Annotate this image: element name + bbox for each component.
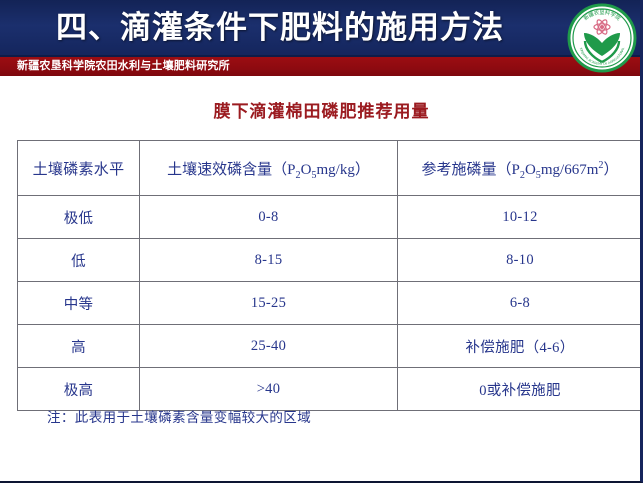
- cell-content: 15-25: [140, 282, 398, 325]
- page-title: 四、滴灌条件下肥料的施用方法: [0, 6, 560, 50]
- slide-header: 四、滴灌条件下肥料的施用方法 新疆农垦科学院农田水利与土壤肥料研究所: [0, 0, 643, 76]
- header-col3-suffix: mg/667m: [541, 162, 599, 178]
- cell-content: 8-15: [140, 239, 398, 282]
- cell-dose: 补偿施肥（4-6）: [398, 325, 643, 368]
- header-cell-available-p: 土壤速效磷含量（P2O5mg/kg）: [140, 141, 398, 196]
- table-row: 极低 0-8 10-12: [18, 196, 643, 239]
- header-col3-prefix: 参考施磷量（P: [422, 162, 520, 178]
- cell-dose: 10-12: [398, 196, 643, 239]
- table-row: 极高 >40 0或补偿施肥: [18, 368, 643, 411]
- header-col2-prefix: 土壤速效磷含量（P: [167, 162, 295, 178]
- table-row: 低 8-15 8-10: [18, 239, 643, 282]
- cell-content: 25-40: [140, 325, 398, 368]
- cell-level: 高: [18, 325, 140, 368]
- cell-level: 极低: [18, 196, 140, 239]
- recommendation-table-wrapper: 土壤磷素水平 土壤速效磷含量（P2O5mg/kg） 参考施磷量（P2O5mg/6…: [17, 140, 627, 411]
- cell-content: >40: [140, 368, 398, 411]
- cell-level: 中等: [18, 282, 140, 325]
- cell-dose: 6-8: [398, 282, 643, 325]
- header-col3-end: ）: [603, 162, 618, 178]
- slide-canvas: 四、滴灌条件下肥料的施用方法 新疆农垦科学院农田水利与土壤肥料研究所 新疆农垦科…: [0, 0, 643, 483]
- header-cell-soil-level: 土壤磷素水平: [18, 141, 140, 196]
- cell-level: 极高: [18, 368, 140, 411]
- header-col3-mid: O: [525, 162, 536, 178]
- table-caption: 膜下滴灌棉田磷肥推荐用量: [0, 97, 643, 122]
- institute-emblem-icon: 新疆农垦科学院 XINJIANG ACADEMY OF AGRICULTURAL: [566, 2, 638, 74]
- phosphorus-recommendation-table: 土壤磷素水平 土壤速效磷含量（P2O5mg/kg） 参考施磷量（P2O5mg/6…: [17, 140, 643, 411]
- header-col2-mid: O: [301, 162, 312, 178]
- cell-dose: 8-10: [398, 239, 643, 282]
- cell-dose: 0或补偿施肥: [398, 368, 643, 411]
- table-header-row: 土壤磷素水平 土壤速效磷含量（P2O5mg/kg） 参考施磷量（P2O5mg/6…: [18, 141, 643, 196]
- table-row: 中等 15-25 6-8: [18, 282, 643, 325]
- header-col2-suffix: mg/kg）: [317, 162, 370, 178]
- organization-name: 新疆农垦科学院农田水利与土壤肥料研究所: [17, 58, 230, 75]
- table-row: 高 25-40 补偿施肥（4-6）: [18, 325, 643, 368]
- header-cell-recommended-dose: 参考施磷量（P2O5mg/667m2）: [398, 141, 643, 196]
- table-footnote: 注：此表用于土壤磷素含量变幅较大的区域: [47, 406, 311, 426]
- cell-content: 0-8: [140, 196, 398, 239]
- cell-level: 低: [18, 239, 140, 282]
